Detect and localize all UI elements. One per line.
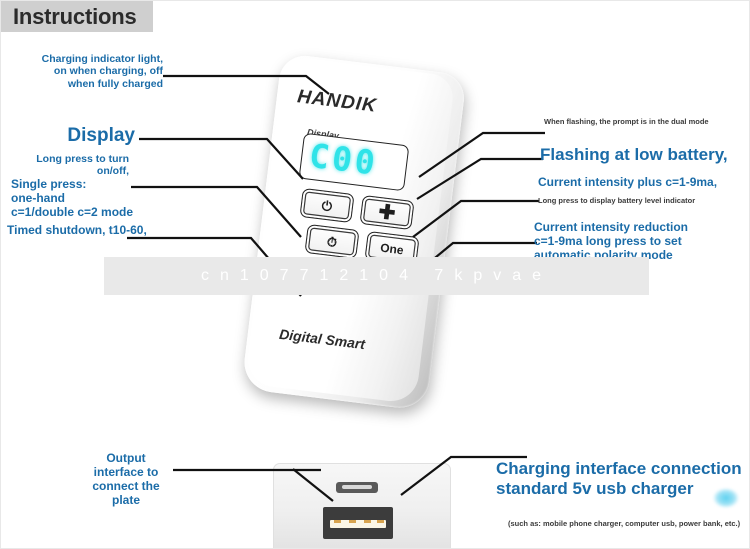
annotation-battery-level: Long press to display battery level indi… xyxy=(538,197,748,206)
power-icon: ⏻ xyxy=(301,196,352,215)
usb-pin xyxy=(334,520,341,523)
usb-pin xyxy=(377,520,384,523)
usb-a-tongue xyxy=(330,520,386,528)
device-illustration: HANDIK Display C00 ⏻ ✚ ⏱ One Digital Sma… xyxy=(233,59,473,409)
annotation-intensity-plus: Current intensity plus c=1-9ma, xyxy=(538,175,748,189)
clock-icon: ⏱ xyxy=(306,232,357,251)
timer-button[interactable]: ⏱ xyxy=(304,224,359,259)
instructions-page: Instructions HANDIK Display C00 ⏻ ✚ ⏱ On… xyxy=(0,0,750,549)
micro-usb-port xyxy=(336,482,378,493)
usb-pin xyxy=(349,520,356,523)
one-button-label: One xyxy=(366,239,417,257)
watermark-band: cn107712104 7kpvae xyxy=(104,257,649,295)
annotation-charging-indicator: Charging indicator light, on when chargi… xyxy=(15,53,163,90)
annotation-timed-shutdown: Timed shutdown, t10-60, xyxy=(7,223,177,237)
plus-icon: ✚ xyxy=(361,200,413,226)
annotation-single-press: Single press: one-hand c=1/double c=2 mo… xyxy=(11,177,161,219)
annotation-long-press-onoff: Long press to turn on/off, xyxy=(9,153,129,178)
page-title: Instructions xyxy=(13,4,137,30)
annotation-dual-mode: When flashing, the prompt is in the dual… xyxy=(544,118,749,127)
watermark-text: cn107712104 7kpvae xyxy=(104,267,649,285)
annotation-charging-examples: (such as: mobile phone charger, computer… xyxy=(508,520,748,529)
device-bottom-edge xyxy=(273,463,451,549)
annotation-charging-interface: Charging interface connection standard 5… xyxy=(496,459,750,499)
usb-a-port xyxy=(323,507,393,539)
annotation-display-heading: Display xyxy=(15,125,135,147)
usb-pin xyxy=(364,520,371,523)
power-button[interactable]: ⏻ xyxy=(299,188,354,223)
corner-mark xyxy=(713,488,739,508)
screen-digits: C00 xyxy=(307,136,380,183)
annotation-low-battery: Flashing at low battery, xyxy=(540,145,750,165)
annotation-output-interface: Output interface to connect the plate xyxy=(73,451,179,508)
intensity-plus-button[interactable]: ✚ xyxy=(359,195,414,230)
